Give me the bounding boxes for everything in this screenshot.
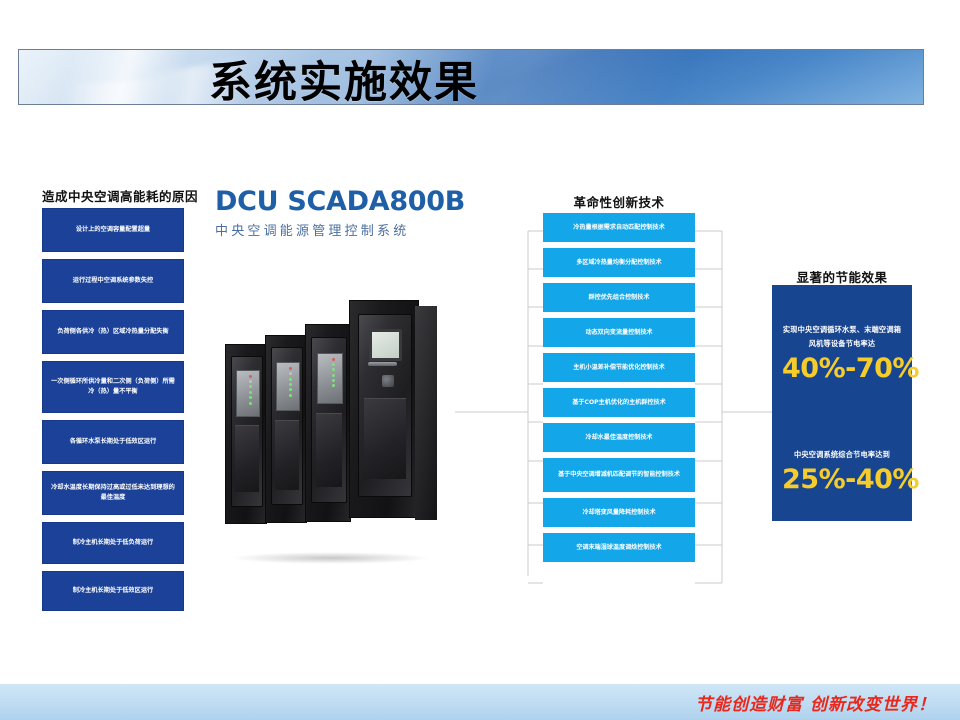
cabinet-handle[interactable] <box>368 362 397 366</box>
cabinet-lock-knob[interactable] <box>382 375 394 387</box>
control-cabinet-image <box>225 278 445 558</box>
tech-item[interactable]: 多区域冷热量均衡分配控制技术 <box>543 248 695 277</box>
technology-list: 冷热量根据需求自动匹配控制技术 多区域冷热量均衡分配控制技术 群控优先组合控制技… <box>543 213 695 568</box>
footer-slogan: 节能创造财富 创新改变世界！ <box>695 690 936 715</box>
cabinet-door <box>358 314 412 497</box>
savings-results: 实现中央空调循环水泵、末端空调箱风机等设备节电率达 40%-70% 中央空调系统… <box>772 285 912 521</box>
cause-item[interactable]: 一次侧循环所供冷量和二次侧（负荷侧）所需冷（热）量不平衡 <box>42 361 184 413</box>
brand-name-cn: 中央空调能源管理控制系统 <box>215 220 465 239</box>
cabinet-status-leds <box>249 375 257 417</box>
page-title: 系统实施效果 <box>209 49 479 105</box>
tech-item[interactable]: 冷却塔变风量降耗控制技术 <box>543 498 695 527</box>
cabinet-2 <box>265 335 307 523</box>
tech-column-header: 革命性创新技术 <box>543 192 695 211</box>
cabinet-door <box>271 347 303 505</box>
cabinet-3 <box>305 324 351 522</box>
cause-item[interactable]: 冷却水温度长期保持过高或过低未达到理想的最佳温度 <box>42 471 184 515</box>
footer-bar: 节能创造财富 创新改变世界！ <box>0 684 960 720</box>
cause-item[interactable]: 负荷侧各供冷（热）区域冷热量分配失衡 <box>42 310 184 354</box>
causes-list: 设计上的空调容量配置超量 运行过程中空调系统参数失控 负荷侧各供冷（热）区域冷热… <box>42 208 184 618</box>
cabinet-door <box>231 356 263 508</box>
cabinet-door <box>311 337 346 504</box>
tech-item[interactable]: 冷却水最佳温度控制技术 <box>543 423 695 452</box>
brand-name-en: DCU SCADA800B <box>215 186 465 217</box>
tech-item[interactable]: 空调末端湿球温度调焓控制技术 <box>543 533 695 562</box>
cabinet-status-leds <box>332 358 341 404</box>
cause-item[interactable]: 各循环水泵长期处于低效区运行 <box>42 420 184 464</box>
tech-item[interactable]: 主机小温差补偿节能优化控制技术 <box>543 353 695 382</box>
cabinet-lower-section <box>364 398 405 479</box>
banner-cloud-streak-3 <box>18 74 230 105</box>
cabinet-side-panel <box>415 306 437 520</box>
result-value: 40%-70% <box>782 355 902 383</box>
result-item-equipment[interactable]: 实现中央空调循环水泵、末端空调箱风机等设备节电率达 40%-70% <box>772 285 912 421</box>
product-brand: DCU SCADA800B 中央空调能源管理控制系统 <box>215 186 465 239</box>
tech-item[interactable]: 群控优先组合控制技术 <box>543 283 695 312</box>
tech-item[interactable]: 基于中央空调增减机匹配调节的智能控制技术 <box>543 458 695 492</box>
cabinet-4-with-hmi <box>349 300 419 518</box>
cabinet-lower-section <box>235 425 259 492</box>
tech-item[interactable]: 基于COP主机优化的主机群控技术 <box>543 388 695 417</box>
result-item-system[interactable]: 中央空调系统综合节电率达到 25%-40% <box>772 421 912 521</box>
tech-item[interactable]: 动态双向变流量控制技术 <box>543 318 695 347</box>
cause-item[interactable]: 设计上的空调容量配置超量 <box>42 208 184 252</box>
left-column-header: 造成中央空调高能耗的原因 <box>42 186 184 205</box>
cause-item[interactable]: 制冷主机长期处于低效区运行 <box>42 571 184 611</box>
cabinet-lower-section <box>316 413 343 486</box>
cabinet-1 <box>225 344 267 524</box>
cabinet-status-leds <box>289 367 297 411</box>
result-label: 实现中央空调循环水泵、末端空调箱风机等设备节电率达 <box>782 323 902 350</box>
cause-item[interactable]: 制冷主机长期处于低负荷运行 <box>42 522 184 564</box>
result-label: 中央空调系统综合节电率达到 <box>782 448 902 462</box>
result-column-header: 显著的节能效果 <box>772 267 912 286</box>
cause-item[interactable]: 运行过程中空调系统参数失控 <box>42 259 184 303</box>
cabinet-lower-section <box>275 420 299 490</box>
tech-item[interactable]: 冷热量根据需求自动匹配控制技术 <box>543 213 695 242</box>
hmi-touchscreen[interactable] <box>369 329 402 360</box>
result-value: 25%-40% <box>782 466 902 494</box>
title-banner: 系统实施效果 <box>18 49 924 105</box>
cabinet-shadow <box>231 552 431 564</box>
